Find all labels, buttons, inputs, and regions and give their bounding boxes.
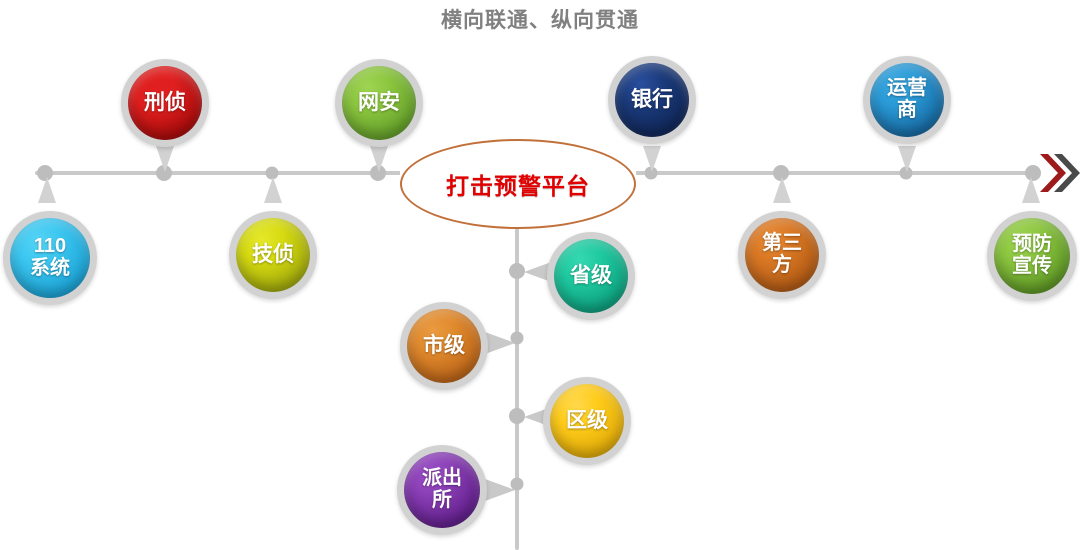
bubble-label: 市级 [423,335,465,358]
bubble-xingzhen[interactable]: 刑侦 [121,59,209,147]
bubble-tail [38,177,56,203]
bubble-jizhen[interactable]: 技侦 [229,211,317,299]
bubble-label: 第三方 [754,233,810,276]
bubble-tail [370,146,388,172]
bubble-label: 110 系统 [30,236,70,279]
bubble-yunyingshang[interactable]: 运营商 [863,56,951,144]
bubble-tail [773,177,791,203]
bubble-face: 刑侦 [128,66,202,140]
bubble-yinhang[interactable]: 银行 [608,56,696,144]
bubble-face: 预防 宣传 [994,218,1070,294]
bubble-tail [264,177,282,203]
bubble-face: 网安 [342,66,416,140]
double-chevron-right-icon [1038,150,1080,196]
bubble-label: 区级 [566,410,608,433]
bubble-yufang-xuanchuan[interactable]: 预防 宣传 [987,211,1077,301]
bubble-face: 派出所 [404,452,480,528]
bubble-label: 派出所 [415,468,469,511]
bubble-tail [156,146,174,172]
bubble-label: 预防 宣传 [1012,234,1052,277]
branch-tail [485,332,515,354]
bubble-label: 运营商 [884,78,930,121]
bubble-face: 第三方 [745,218,819,292]
page-title: 横向联通、纵向贯通 [0,4,1080,34]
bubble-label: 技侦 [252,244,294,267]
bubble-label: 省级 [570,265,612,288]
bubble-disanfang[interactable]: 第三方 [738,211,826,299]
center-platform-label: 打击预警平台 [446,167,590,201]
bubble-wangan[interactable]: 网安 [335,59,423,147]
bubble-label: 银行 [631,89,673,112]
bubble-face: 区级 [550,384,624,458]
diagram-canvas: 横向联通、纵向贯通 刑侦 网安 银行 [0,0,1080,550]
bubble-face: 技侦 [236,218,310,292]
bubble-face: 省级 [554,239,628,313]
branch-node [509,263,525,279]
bubble-paichusuo[interactable]: 派出所 [397,445,487,535]
bubble-label: 刑侦 [144,92,186,115]
bubble-tail [898,146,916,172]
bubble-shiji[interactable]: 市级 [400,302,488,390]
bubble-face: 市级 [407,309,481,383]
bubble-tail [1022,177,1040,203]
bubble-shengji[interactable]: 省级 [547,232,635,320]
bubble-face: 银行 [615,63,689,137]
bubble-face: 110 系统 [10,218,90,298]
bubble-110-system[interactable]: 110 系统 [3,211,97,305]
branch-node [509,408,525,424]
branch-tail [485,479,515,501]
center-platform-node[interactable]: 打击预警平台 [400,139,636,229]
bubble-label: 网安 [358,92,400,115]
bubble-face: 运营商 [870,63,944,137]
bubble-quji[interactable]: 区级 [543,377,631,465]
bubble-tail [643,146,661,172]
